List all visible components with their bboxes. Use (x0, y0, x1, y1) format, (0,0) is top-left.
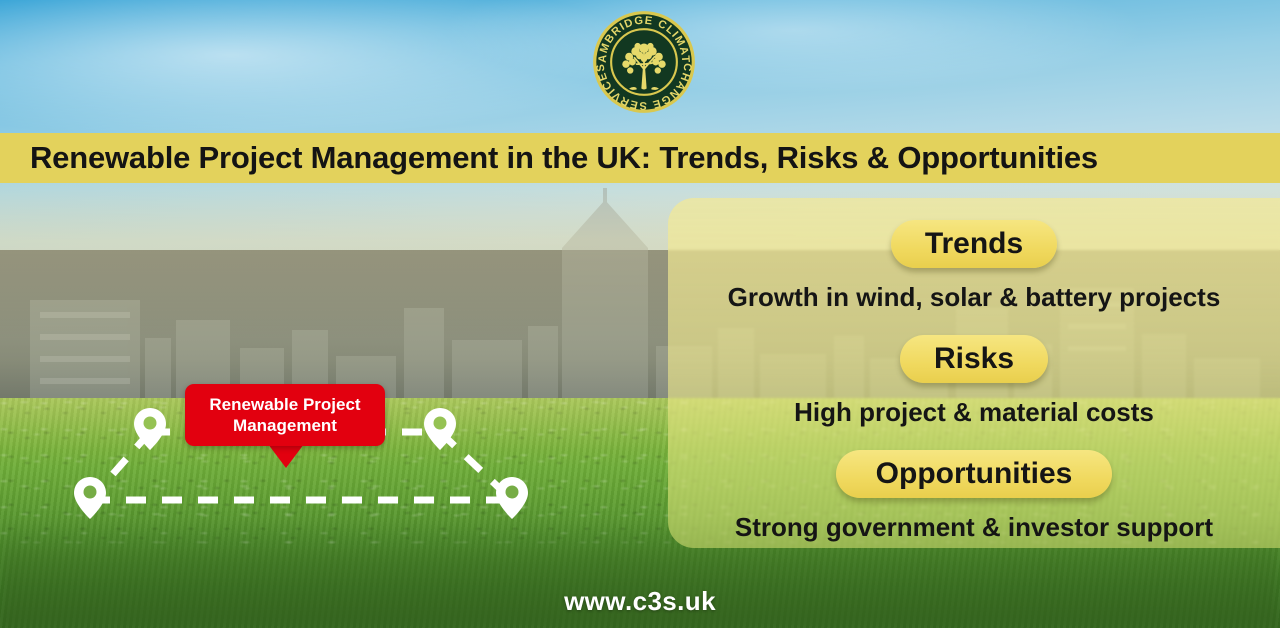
badge-trends[interactable]: Trends (891, 220, 1057, 268)
blurb-risks: High project & material costs (794, 397, 1154, 428)
project-callout[interactable]: Renewable Project Management (185, 384, 385, 446)
blurb-trends: Growth in wind, solar & battery projects (728, 282, 1221, 313)
project-map-graphic: Renewable Project Management (0, 360, 660, 560)
page-title: Renewable Project Management in the UK: … (30, 140, 1098, 176)
badge-opportunities[interactable]: Opportunities (836, 450, 1113, 498)
map-pin-bottom-right[interactable] (494, 475, 530, 521)
callout-pointer-icon (268, 444, 304, 468)
cambridge-climate-change-services-logo: CAMBRIDGE CLIMATE CHANGE SERVICES (591, 9, 697, 115)
title-banner: Renewable Project Management in the UK: … (0, 133, 1280, 183)
poster-canvas: CAMBRIDGE CLIMATE CHANGE SERVICES Renewa… (0, 0, 1280, 628)
map-pin-top-left[interactable] (132, 406, 168, 452)
blurb-opportunities: Strong government & investor support (735, 512, 1213, 543)
map-pin-top-right[interactable] (422, 406, 458, 452)
callout-label-line1: Renewable Project (209, 394, 360, 415)
callout-label-line2: Management (233, 415, 337, 436)
website-url[interactable]: www.c3s.uk (0, 586, 1280, 617)
insights-panel: Trends Growth in wind, solar & battery p… (668, 198, 1280, 548)
badge-risks[interactable]: Risks (900, 335, 1048, 383)
map-pin-bottom-left[interactable] (72, 475, 108, 521)
